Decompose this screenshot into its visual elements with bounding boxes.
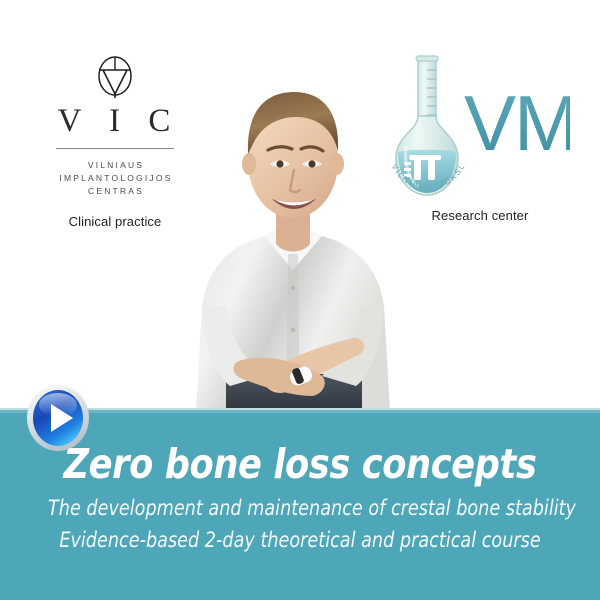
play-button[interactable] [26, 384, 90, 452]
poster-top-stage: V I C VILNIAUS IMPLANTOLOGIJOS CENTRAS C… [0, 0, 600, 412]
flask-rim [416, 56, 438, 61]
course-subtitle-1: The development and maintenance of crest… [48, 496, 552, 520]
ear-right [330, 153, 344, 175]
title-banner: Zero bone loss concepts The development … [0, 408, 600, 600]
pupil-right [308, 160, 315, 167]
pupil-left [276, 160, 283, 167]
vic-divider [56, 148, 174, 149]
presenter-portrait [168, 38, 418, 412]
neck [276, 214, 310, 252]
ear-left [242, 153, 256, 175]
vmg-role-label: Research center [390, 208, 570, 223]
course-subtitle-2: Evidence-based 2-day theoretical and pra… [48, 528, 552, 552]
shirt-button [291, 328, 295, 332]
flask-neck [418, 58, 436, 122]
vmg-logo-block: VILNIAUS MOKSLO GRUPĖ VMG Research cente… [390, 50, 570, 223]
presenter-portrait-illustration [168, 38, 418, 412]
video-thumbnail-poster: V I C VILNIAUS IMPLANTOLOGIJOS CENTRAS C… [0, 0, 600, 600]
course-title: Zero bone loss concepts [42, 440, 558, 488]
vmg-wordmark: VMG [464, 79, 570, 167]
shirt-button [291, 286, 295, 290]
vmg-flask-icon: VILNIAUS MOKSLO GRUPĖ VMG [390, 50, 570, 202]
play-triangle-icon[interactable] [26, 384, 90, 452]
